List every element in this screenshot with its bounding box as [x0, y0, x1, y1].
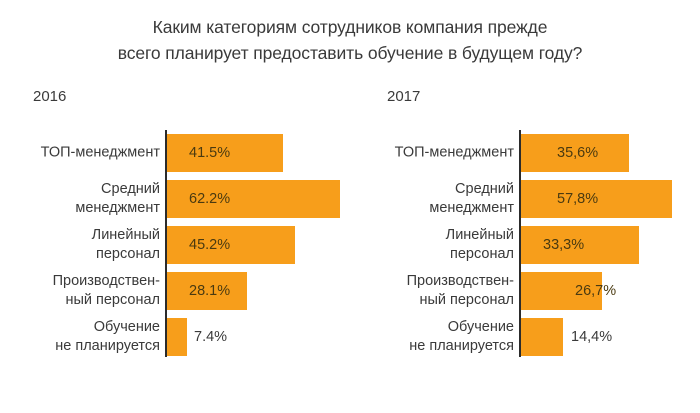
year-heading-2016: 2016	[33, 88, 66, 105]
bar-container: 45.2%	[167, 226, 350, 264]
bar-container: 35,6%	[521, 134, 700, 172]
category-label-line-1: Средний	[354, 180, 514, 199]
category-label-line-1: ТОП-менеджмент	[0, 143, 160, 162]
bar-value-label: 28.1%	[189, 283, 230, 299]
category-label-line-2: не планируется	[354, 337, 514, 356]
bar-value-label: 62.2%	[189, 191, 230, 207]
category-label-line-2: менеджмент	[0, 199, 160, 218]
bar-container: 14,4%	[521, 318, 700, 356]
category-label-line-1: Линейный	[354, 226, 514, 245]
bar-value-label: 26,7%	[575, 283, 616, 299]
bar-row: Средний менеджмент 57,8%	[354, 176, 700, 221]
category-label-line-1: Средний	[0, 180, 160, 199]
category-label-line-1: Производствен-	[0, 272, 160, 291]
category-label-line-1: Линейный	[0, 226, 160, 245]
page-title: Каким категориям сотрудников компания пр…	[0, 14, 700, 66]
category-label: Обучение не планируется	[354, 318, 514, 356]
bar[interactable]	[521, 318, 563, 356]
category-label: Производствен- ный персонал	[354, 272, 514, 310]
bar-row: Линейный персонал 33,3%	[354, 222, 700, 267]
category-label: Линейный персонал	[0, 226, 160, 264]
bar-container: 26,7%	[521, 272, 700, 310]
bar-row: Средний менеджмент 62.2%	[0, 176, 350, 221]
bar-container: 28.1%	[167, 272, 350, 310]
bar-row: Линейный персонал 45.2%	[0, 222, 350, 267]
category-label: Обучение не планируется	[0, 318, 160, 356]
year-heading-2017: 2017	[387, 88, 420, 105]
category-label-line-2: менеджмент	[354, 199, 514, 218]
bar-value-label: 33,3%	[543, 237, 584, 253]
category-label: Линейный персонал	[354, 226, 514, 264]
bar-value-label: 35,6%	[557, 145, 598, 161]
category-label-line-2: не планируется	[0, 337, 160, 356]
bar-container: 62.2%	[167, 180, 350, 218]
bar[interactable]	[167, 226, 295, 264]
category-label: Средний менеджмент	[0, 180, 160, 218]
chart-panel-2017: 2017 ТОП-менеджмент 35,6% Средний менедж…	[354, 88, 700, 388]
chart-panel-2016: 2016 ТОП-менеджмент 41.5% Средний менедж…	[0, 88, 350, 388]
bar-row: Обучение не планируется 14,4%	[354, 314, 700, 359]
category-label-line-1: Обучение	[354, 318, 514, 337]
bar-row: ТОП-менеджмент 41.5%	[0, 130, 350, 175]
category-label-line-1: Производствен-	[354, 272, 514, 291]
bar-value-label: 14,4%	[571, 329, 612, 345]
bar-container: 57,8%	[521, 180, 700, 218]
bar[interactable]	[167, 318, 187, 356]
category-label: ТОП-менеджмент	[0, 143, 160, 162]
bar-row: Производствен- ный персонал 26,7%	[354, 268, 700, 313]
plot-area-2017: ТОП-менеджмент 35,6% Средний менеджмент …	[354, 130, 700, 388]
title-line-1: Каким категориям сотрудников компания пр…	[0, 14, 700, 40]
bar-value-label: 41.5%	[189, 145, 230, 161]
bar-row: Обучение не планируется 7.4%	[0, 314, 350, 359]
title-line-2: всего планирует предоставить обучение в …	[0, 40, 700, 66]
plot-area-2016: ТОП-менеджмент 41.5% Средний менеджмент …	[0, 130, 350, 388]
category-label: ТОП-менеджмент	[354, 143, 514, 162]
bar-row: ТОП-менеджмент 35,6%	[354, 130, 700, 175]
category-label-line-2: персонал	[354, 245, 514, 264]
category-label-line-1: ТОП-менеджмент	[354, 143, 514, 162]
bar-row: Производствен- ный персонал 28.1%	[0, 268, 350, 313]
category-label-line-2: ный персонал	[354, 291, 514, 310]
category-label-line-2: ный персонал	[0, 291, 160, 310]
category-label-line-2: персонал	[0, 245, 160, 264]
bar-container: 33,3%	[521, 226, 700, 264]
bar-value-label: 57,8%	[557, 191, 598, 207]
category-label: Средний менеджмент	[354, 180, 514, 218]
bar-container: 41.5%	[167, 134, 350, 172]
category-label-line-1: Обучение	[0, 318, 160, 337]
bar-value-label: 45.2%	[189, 237, 230, 253]
category-label: Производствен- ный персонал	[0, 272, 160, 310]
bar-container: 7.4%	[167, 318, 350, 356]
bar-value-label: 7.4%	[194, 329, 227, 345]
